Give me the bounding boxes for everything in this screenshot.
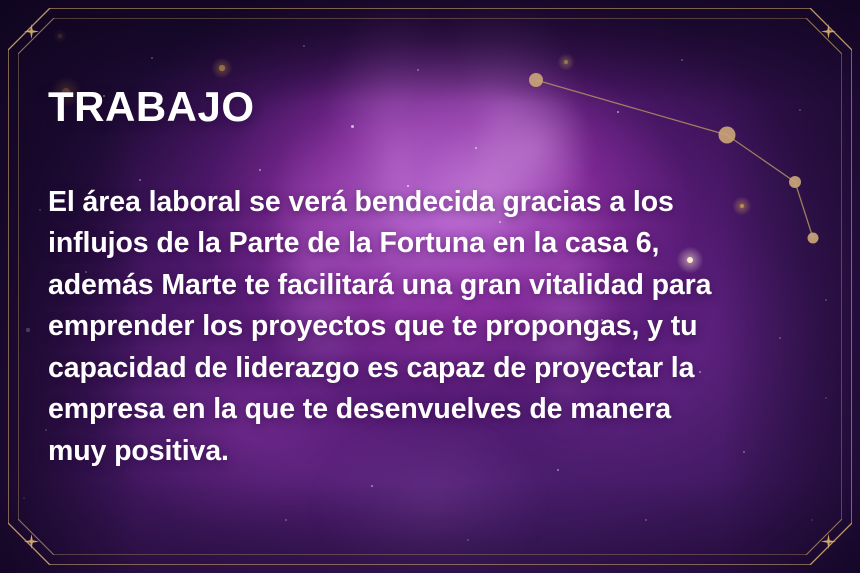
star-glow: [557, 53, 575, 71]
star: [681, 59, 683, 61]
constellation-node: [529, 73, 543, 87]
body-line: capacidad de liderazgo es capaz de proye…: [48, 348, 838, 389]
star: [645, 519, 647, 521]
body-paragraph: El área laboral se verá bendecida gracia…: [48, 182, 838, 472]
body-line: influjos de la Parte de la Fortuna en la…: [48, 223, 838, 264]
star-glow: [211, 57, 233, 79]
star: [26, 328, 29, 331]
sparkle-bottom-right-icon: [821, 534, 836, 549]
star-glow: [53, 29, 67, 43]
sparkle-bottom-left-icon: [24, 534, 39, 549]
star: [811, 519, 814, 522]
star: [417, 69, 419, 71]
star: [151, 57, 153, 59]
body-line: muy positiva.: [48, 431, 838, 472]
star: [285, 519, 287, 521]
star: [39, 209, 41, 211]
star: [23, 497, 26, 500]
body-line: El área laboral se verá bendecida gracia…: [48, 182, 838, 223]
body-line: además Marte te facilitará una gran vita…: [48, 265, 838, 306]
star: [371, 485, 373, 487]
sparkle-top-left-icon: [24, 24, 39, 39]
page-title: TRABAJO: [48, 86, 848, 128]
star: [58, 34, 61, 37]
content-block: TRABAJO El área laboral se verá bendecid…: [48, 86, 848, 472]
body-line: empresa en la que te desenvuelves de man…: [48, 389, 838, 430]
star: [303, 45, 305, 47]
star: [467, 539, 469, 541]
star: [45, 429, 47, 431]
horoscope-card: TRABAJO El área laboral se verá bendecid…: [0, 0, 860, 573]
star: [564, 60, 568, 64]
sparkle-top-right-icon: [821, 24, 836, 39]
body-line: emprender los proyectos que te propongas…: [48, 306, 838, 347]
star: [219, 65, 224, 70]
